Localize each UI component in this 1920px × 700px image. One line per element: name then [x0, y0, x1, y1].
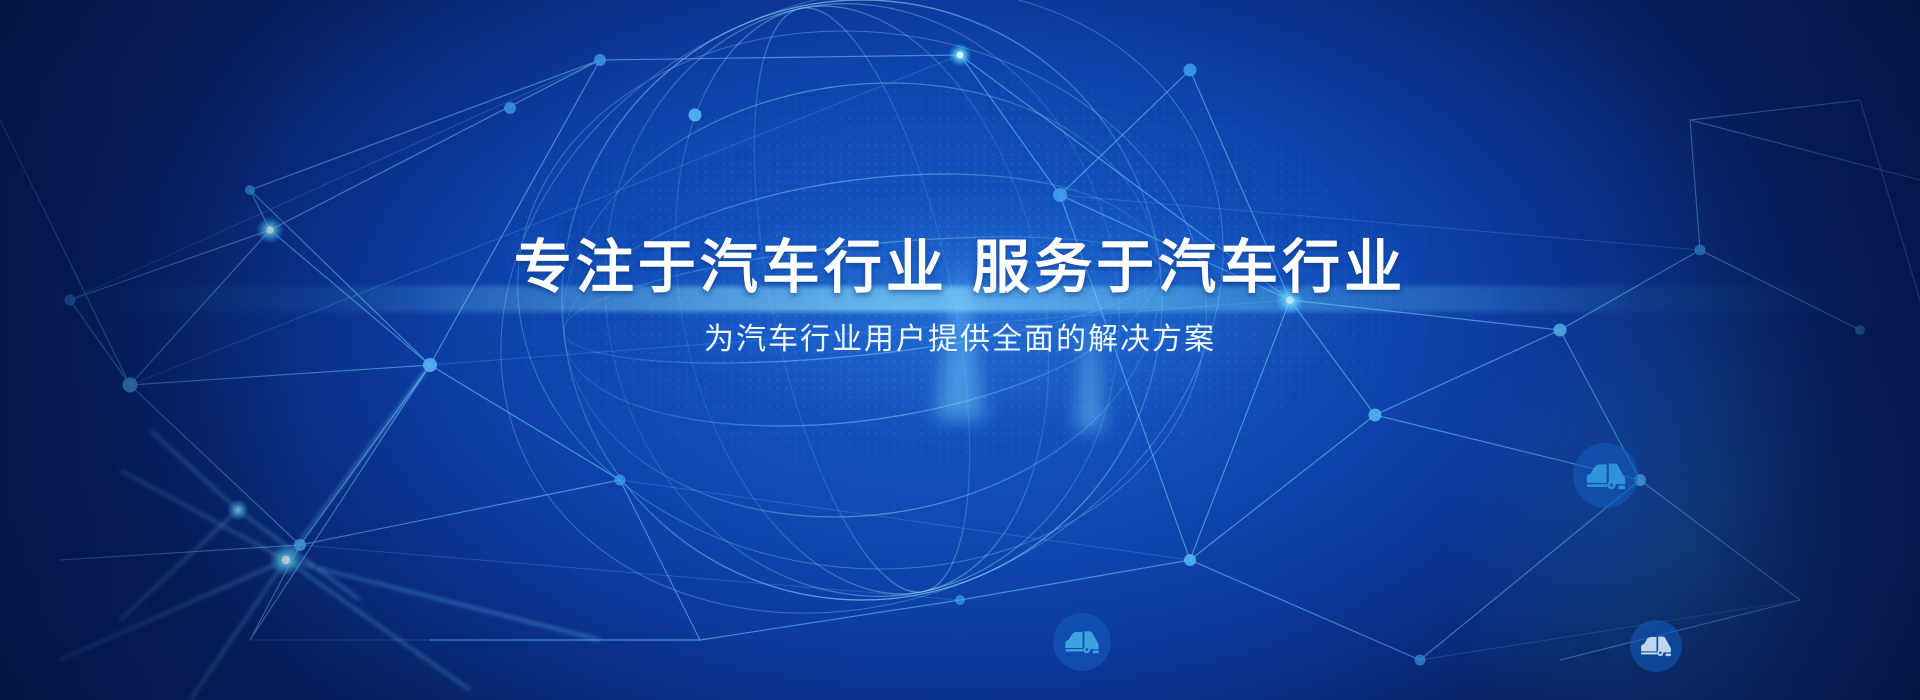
truck-icon: [1639, 629, 1673, 663]
truck-icon: [1063, 623, 1101, 661]
banner-subheadline: 为汽车行业用户提供全面的解决方案: [704, 322, 1216, 358]
banner-headline: 专注于汽车行业 服务于汽车行业: [514, 236, 1406, 300]
truck-icon-right-badge: [1573, 443, 1638, 508]
truck-icon: [1584, 454, 1628, 498]
truck-icon-center-badge: [1053, 613, 1111, 671]
banner-content: 专注于汽车行业 服务于汽车行业 为汽车行业用户提供全面的解决方案: [0, 0, 1920, 700]
hero-banner: 专注于汽车行业 服务于汽车行业 为汽车行业用户提供全面的解决方案: [0, 0, 1920, 700]
truck-icon-low-right-badge: [1630, 620, 1682, 672]
